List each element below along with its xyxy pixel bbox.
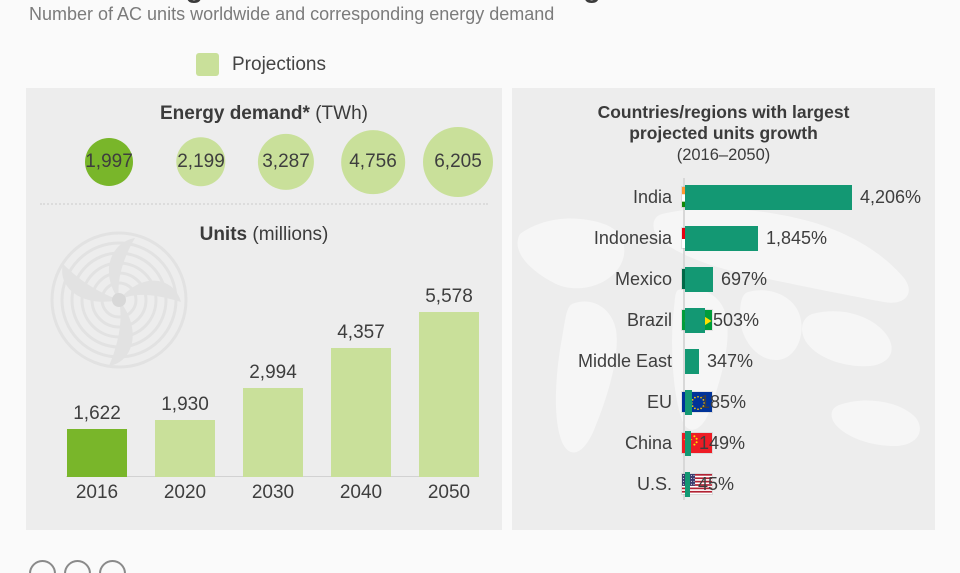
- growth-row-india: India4,206%: [512, 180, 935, 214]
- social-dot-2-icon[interactable]: [64, 560, 91, 573]
- growth-value-label: 149%: [699, 433, 745, 454]
- bar-rect: [419, 312, 479, 477]
- energy-demand-heading-unit: (TWh): [310, 103, 368, 124]
- units-heading-bold: Units: [200, 224, 248, 245]
- growth-value-label: 503%: [713, 310, 759, 331]
- bar-tick-label: 2050: [419, 482, 479, 504]
- growth-country-label: Indonesia: [594, 228, 672, 249]
- units-bar-2016: 1,6222016: [67, 429, 127, 477]
- left-panel: Energy demand* (TWh) 1,9972,1993,2874,75…: [26, 88, 502, 530]
- bar-value-label: 1,622: [67, 403, 127, 425]
- growth-bar-chart: India4,206%Indonesia1,845%Mexico697%Braz…: [512, 180, 935, 520]
- growth-bar-rect: [685, 308, 705, 333]
- bar-tick-label: 2030: [243, 482, 303, 504]
- growth-row-china: China149%: [512, 426, 935, 460]
- growth-bar-rect: [685, 472, 690, 497]
- energy-bubble-2016: 1,997: [65, 122, 153, 202]
- bar-value-label: 5,578: [419, 286, 479, 308]
- social-dot-1-icon[interactable]: [29, 560, 56, 573]
- social-dot-3-icon[interactable]: [99, 560, 126, 573]
- bubble-value-label: 6,205: [434, 151, 482, 173]
- bubble-value-label: 2,199: [177, 151, 225, 173]
- bar-rect: [155, 420, 215, 477]
- growth-value-label: 45%: [698, 474, 734, 495]
- growth-country-label: Mexico: [615, 269, 672, 290]
- growth-bar-rect: [685, 185, 852, 210]
- growth-bar-rect: [685, 226, 758, 251]
- page-subtitle: Number of AC units worldwide and corresp…: [29, 4, 554, 25]
- growth-country-label: Middle East: [578, 351, 672, 372]
- legend-label-projections: Projections: [232, 54, 326, 76]
- growth-country-label: EU: [647, 392, 672, 413]
- units-bar-2040: 4,3572040: [331, 348, 391, 477]
- energy-demand-heading-bold: Energy demand*: [160, 103, 310, 124]
- bar-tick-label: 2040: [331, 482, 391, 504]
- legend-swatch-projections: [196, 53, 219, 76]
- growth-country-label: India: [633, 187, 672, 208]
- energy-bubble-2020: 2,199: [157, 122, 245, 202]
- energy-bubble-2050: 6,205: [414, 122, 502, 202]
- units-heading: Units (millions): [26, 224, 502, 246]
- growth-heading-line2: projected units growth: [629, 123, 818, 143]
- bar-rect: [331, 348, 391, 477]
- bubble-value-label: 3,287: [262, 151, 310, 173]
- bubble-value-label: 4,756: [349, 151, 397, 173]
- growth-bar-rect: [685, 267, 713, 292]
- growth-value-label: 347%: [707, 351, 753, 372]
- growth-panel-heading: Countries/regions with largest projected…: [512, 102, 935, 166]
- growth-bar-rect: [685, 349, 699, 374]
- infographic-root: The Growing Demand for Air Conditioning …: [0, 0, 960, 573]
- bubble-value-label: 1,997: [85, 151, 133, 173]
- section-divider: [40, 203, 488, 205]
- growth-bar-rect: [685, 390, 692, 415]
- bar-tick-label: 2020: [155, 482, 215, 504]
- social-share-row[interactable]: [29, 560, 126, 573]
- units-bar-2020: 1,9302020: [155, 420, 215, 477]
- bar-value-label: 2,994: [243, 362, 303, 384]
- legend: Projections: [196, 53, 326, 76]
- growth-row-indonesia: Indonesia1,845%: [512, 221, 935, 255]
- bar-value-label: 1,930: [155, 394, 215, 416]
- bar-rect: [67, 429, 127, 477]
- growth-row-brazil: Brazil503%: [512, 303, 935, 337]
- growth-bar-rect: [685, 431, 691, 456]
- growth-value-label: 697%: [721, 269, 767, 290]
- units-bar-chart: 1,62220161,93020202,99420304,35720405,57…: [40, 256, 488, 514]
- growth-row-u-s-: U.S.45%: [512, 467, 935, 501]
- units-bar-2030: 2,9942030: [243, 388, 303, 477]
- growth-row-mexico: Mexico697%: [512, 262, 935, 296]
- growth-value-label: 4,206%: [860, 187, 921, 208]
- right-panel: Countries/regions with largest projected…: [512, 88, 935, 530]
- growth-row-middle-east: Middle East347%: [512, 344, 935, 378]
- growth-value-label: 185%: [700, 392, 746, 413]
- growth-country-label: U.S.: [637, 474, 672, 495]
- units-heading-unit: (millions): [247, 224, 328, 245]
- growth-heading-line1: Countries/regions with largest: [598, 102, 850, 122]
- growth-row-eu: EU185%: [512, 385, 935, 419]
- growth-value-label: 1,845%: [766, 228, 827, 249]
- bar-value-label: 4,357: [331, 322, 391, 344]
- bar-rect: [243, 388, 303, 477]
- units-bar-2050: 5,5782050: [419, 312, 479, 477]
- growth-heading-years: (2016–2050): [677, 146, 771, 164]
- growth-country-label: China: [625, 433, 672, 454]
- energy-bubble-2030: 3,287: [242, 122, 330, 202]
- bar-tick-label: 2016: [67, 482, 127, 504]
- growth-country-label: Brazil: [627, 310, 672, 331]
- energy-bubble-2040: 4,756: [329, 122, 417, 202]
- energy-demand-bubbles: 1,9972,1993,2874,7566,205: [26, 122, 502, 202]
